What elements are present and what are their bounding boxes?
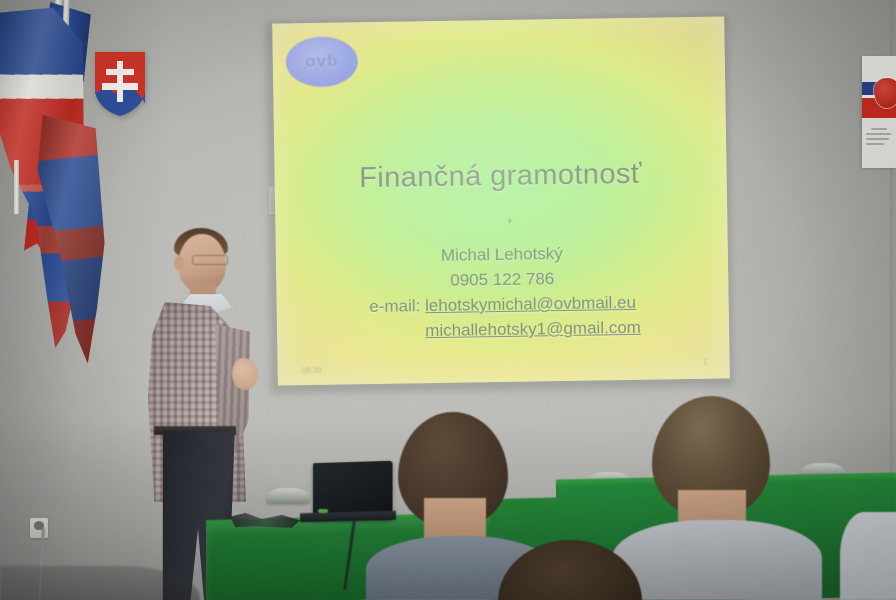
wall-outlet xyxy=(30,518,48,538)
presenter-ear xyxy=(174,256,184,270)
audience-member-4-body xyxy=(840,512,896,600)
presenter-hand xyxy=(232,358,258,390)
slide-email-primary[interactable]: lehotskymichal@ovbmail.eu xyxy=(425,293,636,315)
laptop-status-led xyxy=(318,509,328,513)
presentation-photo: ovb Finančná gramotnosť Michal Lehotský … xyxy=(0,0,896,600)
glasses-icon xyxy=(192,255,228,265)
projection-screen: ovb Finančná gramotnosť Michal Lehotský … xyxy=(269,10,733,387)
slide-email-label: e-mail: xyxy=(369,296,420,316)
slide-contact-block: Michal Lehotský 0905 122 786 e-mail: leh… xyxy=(276,238,730,345)
ovb-logo-text: ovb xyxy=(305,52,339,73)
slide-timestamp: 09:38 xyxy=(302,366,322,375)
slovak-coat-of-arms-icon xyxy=(93,50,147,118)
slide-page-number: 1 xyxy=(703,358,708,367)
poster-mount-stick xyxy=(14,160,19,214)
chair-headrest xyxy=(266,488,310,504)
audience-member-2-body xyxy=(612,520,822,600)
slide-title: Finančná gramotnosť xyxy=(274,156,726,196)
poster-text-lines xyxy=(866,128,892,158)
poster-seal-graphic xyxy=(874,78,896,108)
slide-email-secondary[interactable]: michallehotsky1@gmail.com xyxy=(425,318,641,340)
mouse-cursor-icon xyxy=(508,218,513,225)
presentation-slide: ovb Finančná gramotnosť Michal Lehotský … xyxy=(272,16,730,385)
ovb-logo-icon: ovb xyxy=(285,36,358,87)
wall-poster xyxy=(862,56,896,168)
